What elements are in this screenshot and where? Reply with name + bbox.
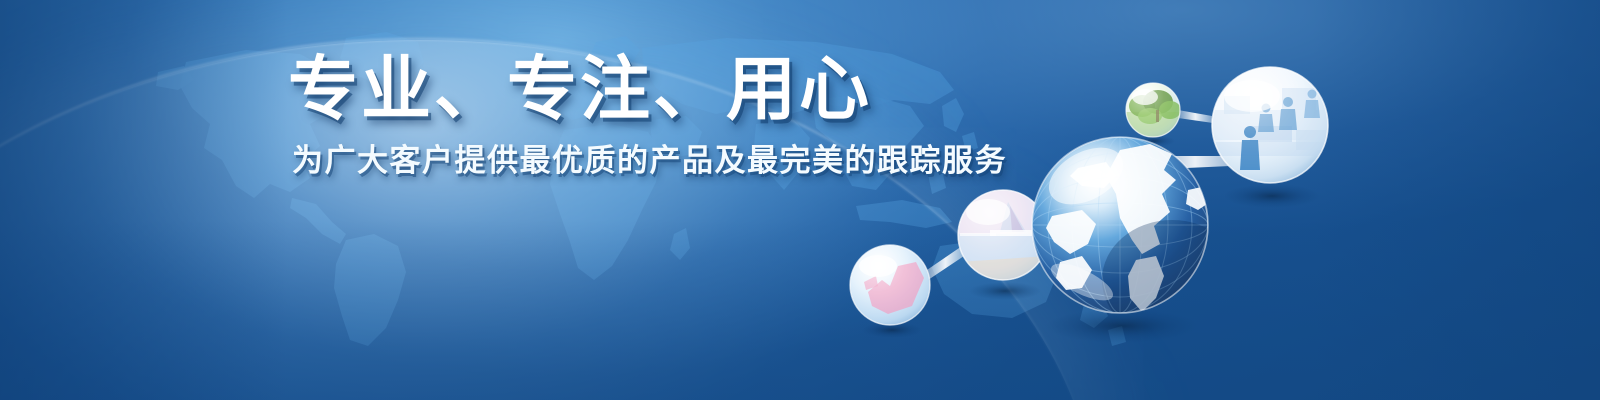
office-sphere [1212, 67, 1328, 183]
promo-banner: 专业、专注、用心 为广大客户提供最优质的产品及最完美的跟踪服务 [0, 0, 1600, 400]
connector-office-to-nature [1178, 110, 1213, 123]
nature-sphere [1126, 83, 1181, 137]
map-sphere [850, 245, 930, 325]
sphere-network-graphic [820, 30, 1380, 370]
